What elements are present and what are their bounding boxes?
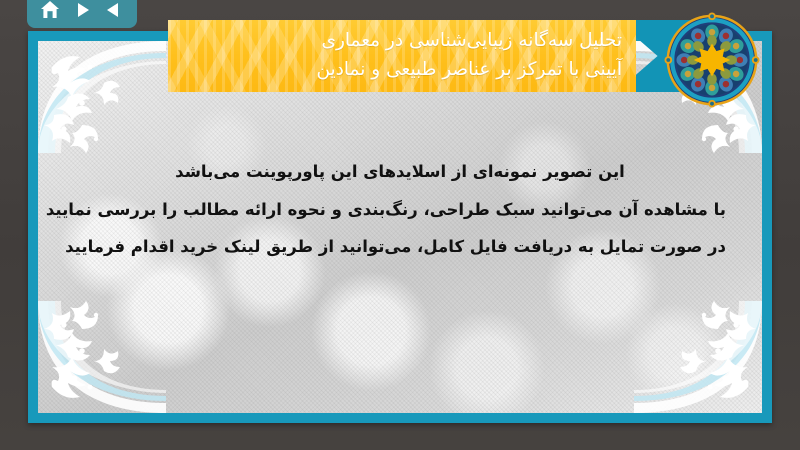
home-button[interactable] (37, 0, 63, 22)
corner-ornament-bottom-right (634, 301, 762, 413)
home-icon (39, 0, 61, 20)
body-line-3: در صورت تمایل به دریافت فایل کامل، می‌تو… (74, 228, 726, 266)
corner-ornament-top-left (38, 41, 166, 153)
forward-button[interactable] (69, 0, 95, 22)
triangle-left-icon (104, 0, 124, 20)
navigation-bar (27, 0, 137, 28)
persian-rosette-medallion (664, 12, 760, 108)
page-title-line-1: تحلیل سه‌گانه زیبایی‌شناسی در معماری (178, 27, 622, 56)
back-button[interactable] (101, 0, 127, 22)
page-title-line-2: آیینی با تمرکز بر عناصر طبیعی و نمادین (178, 56, 622, 85)
body-line-2: با مشاهده آن می‌توانید سبک طراحی، رنگ‌بن… (74, 191, 726, 229)
ribbon-title-body: تحلیل سه‌گانه زیبایی‌شناسی در معماری آیی… (168, 20, 636, 92)
slide-body-text: این تصویر نمونه‌ای از اسلایدهای این پاور… (48, 153, 752, 266)
slide-stage: این تصویر نمونه‌ای از اسلایدهای این پاور… (0, 0, 800, 450)
slide-canvas: این تصویر نمونه‌ای از اسلایدهای این پاور… (38, 41, 762, 413)
title-ribbon: تحلیل سه‌گانه زیبایی‌شناسی در معماری آیی… (168, 20, 708, 92)
persian-rosette-medallion-icon (664, 12, 760, 108)
triangle-right-icon (72, 0, 92, 20)
corner-ornament-bottom-left (38, 301, 166, 413)
body-line-1: این تصویر نمونه‌ای از اسلایدهای این پاور… (74, 153, 726, 191)
